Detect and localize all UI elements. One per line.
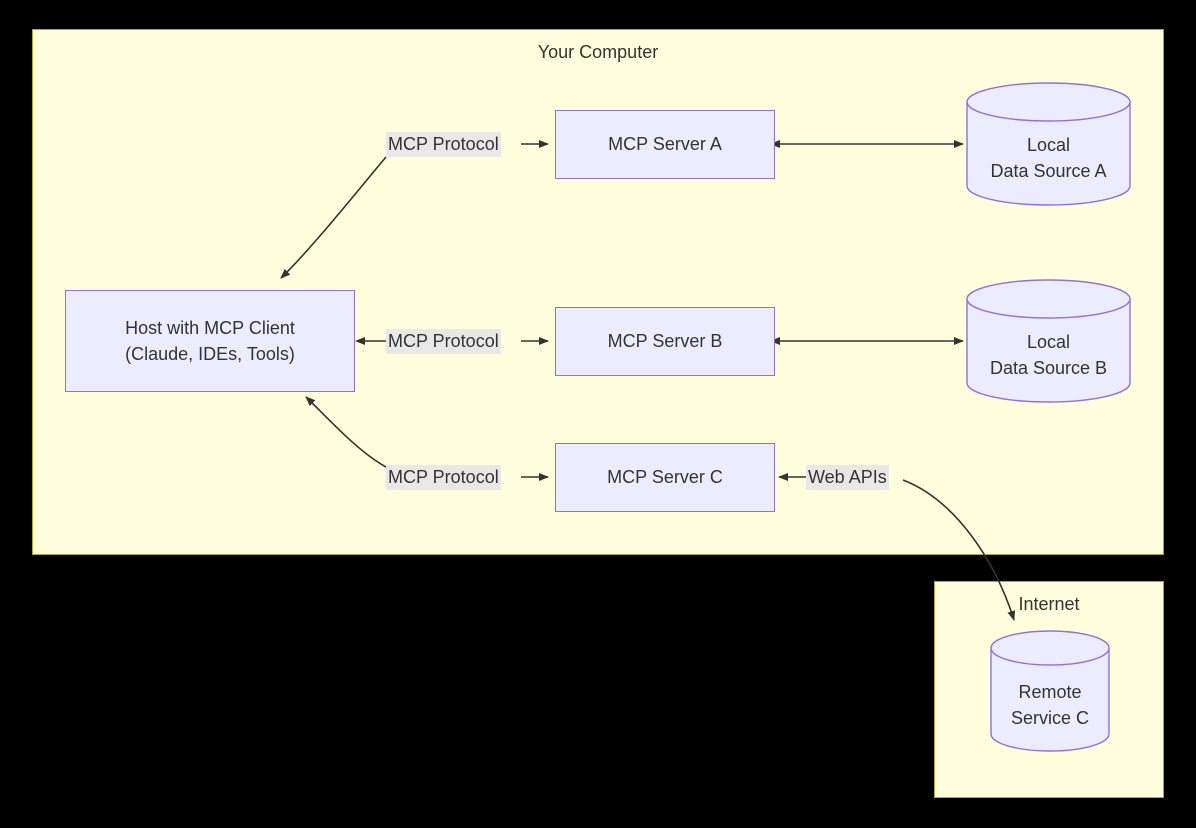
node-mcp-server-a[interactable]: MCP Server A: [555, 110, 775, 179]
node-host[interactable]: Host with MCP Client (Claude, IDEs, Tool…: [65, 290, 355, 392]
cylinder-shape-a: [966, 82, 1131, 206]
diagram-canvas: Your Computer Internet: [0, 0, 1196, 828]
node-local-data-source-b[interactable]: Local Data Source B: [966, 279, 1131, 403]
node-local-data-source-a[interactable]: Local Data Source A: [966, 82, 1131, 206]
edge-label-host-server-a: MCP Protocol: [386, 132, 501, 157]
node-remote-service-c[interactable]: Remote Service C: [990, 630, 1110, 752]
node-host-line-1: Host with MCP Client: [125, 315, 295, 341]
node-mcp-server-c-label: MCP Server C: [607, 464, 723, 490]
edge-webapis-to-remote-service-c-curve: [903, 480, 1014, 620]
cylinder-shape-c: [990, 630, 1110, 752]
edge-host-to-server-a-curve: [281, 157, 386, 278]
node-host-line-2: (Claude, IDEs, Tools): [125, 341, 295, 367]
edge-label-server-c-remote: Web APIs: [806, 465, 889, 490]
node-mcp-server-b[interactable]: MCP Server B: [555, 307, 775, 376]
node-mcp-server-c[interactable]: MCP Server C: [555, 443, 775, 512]
edge-label-host-server-b: MCP Protocol: [386, 329, 501, 354]
node-mcp-server-a-label: MCP Server A: [608, 131, 722, 157]
node-mcp-server-b-label: MCP Server B: [608, 328, 723, 354]
edge-label-host-server-c: MCP Protocol: [386, 465, 501, 490]
edge-host-to-server-c-curve: [306, 397, 386, 467]
cylinder-shape-b: [966, 279, 1131, 403]
